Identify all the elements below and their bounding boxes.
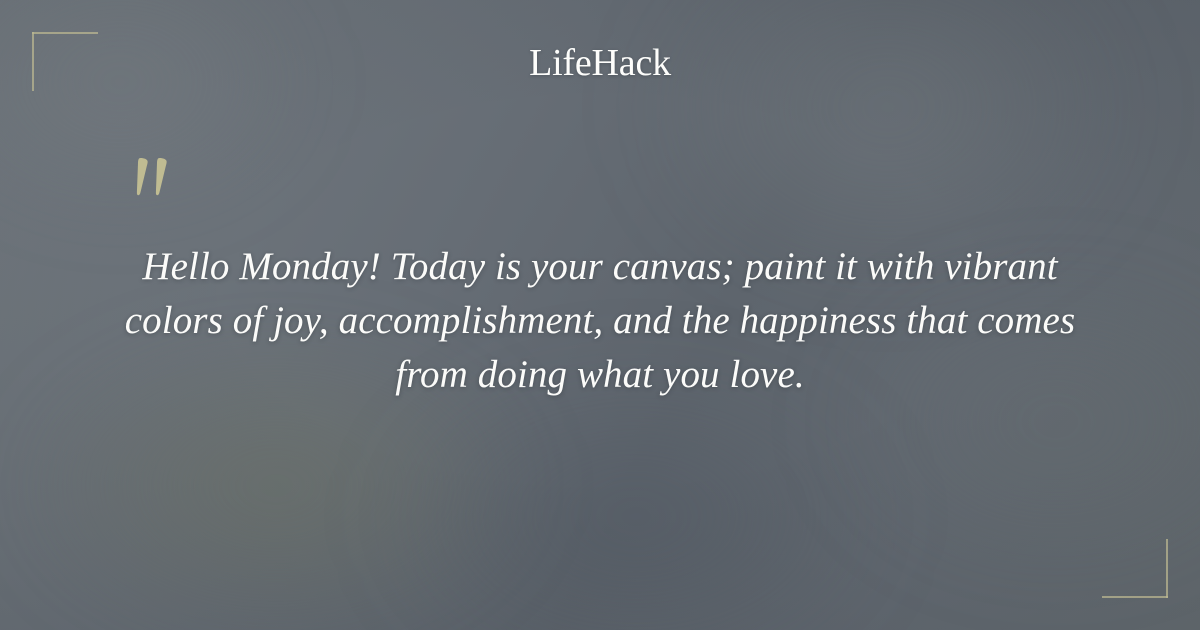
quote-line-3: from doing what you love. bbox=[84, 348, 1116, 402]
corner-bracket-bottom-right-horizontal bbox=[1102, 596, 1168, 598]
corner-bracket-top-left-horizontal bbox=[32, 32, 98, 34]
double-quote-icon bbox=[128, 152, 198, 222]
quote-line-2: colors of joy, accomplishment, and the h… bbox=[84, 294, 1116, 348]
quote-card: LifeHack Hello Monday! Today is your can… bbox=[0, 0, 1200, 630]
corner-bracket-bottom-right bbox=[1102, 539, 1168, 598]
quote-text: Hello Monday! Today is your canvas; pain… bbox=[84, 240, 1116, 402]
brand-logo: LifeHack bbox=[0, 41, 1200, 85]
corner-bracket-bottom-right-vertical bbox=[1166, 539, 1168, 598]
quote-line-1: Hello Monday! Today is your canvas; pain… bbox=[84, 240, 1116, 294]
